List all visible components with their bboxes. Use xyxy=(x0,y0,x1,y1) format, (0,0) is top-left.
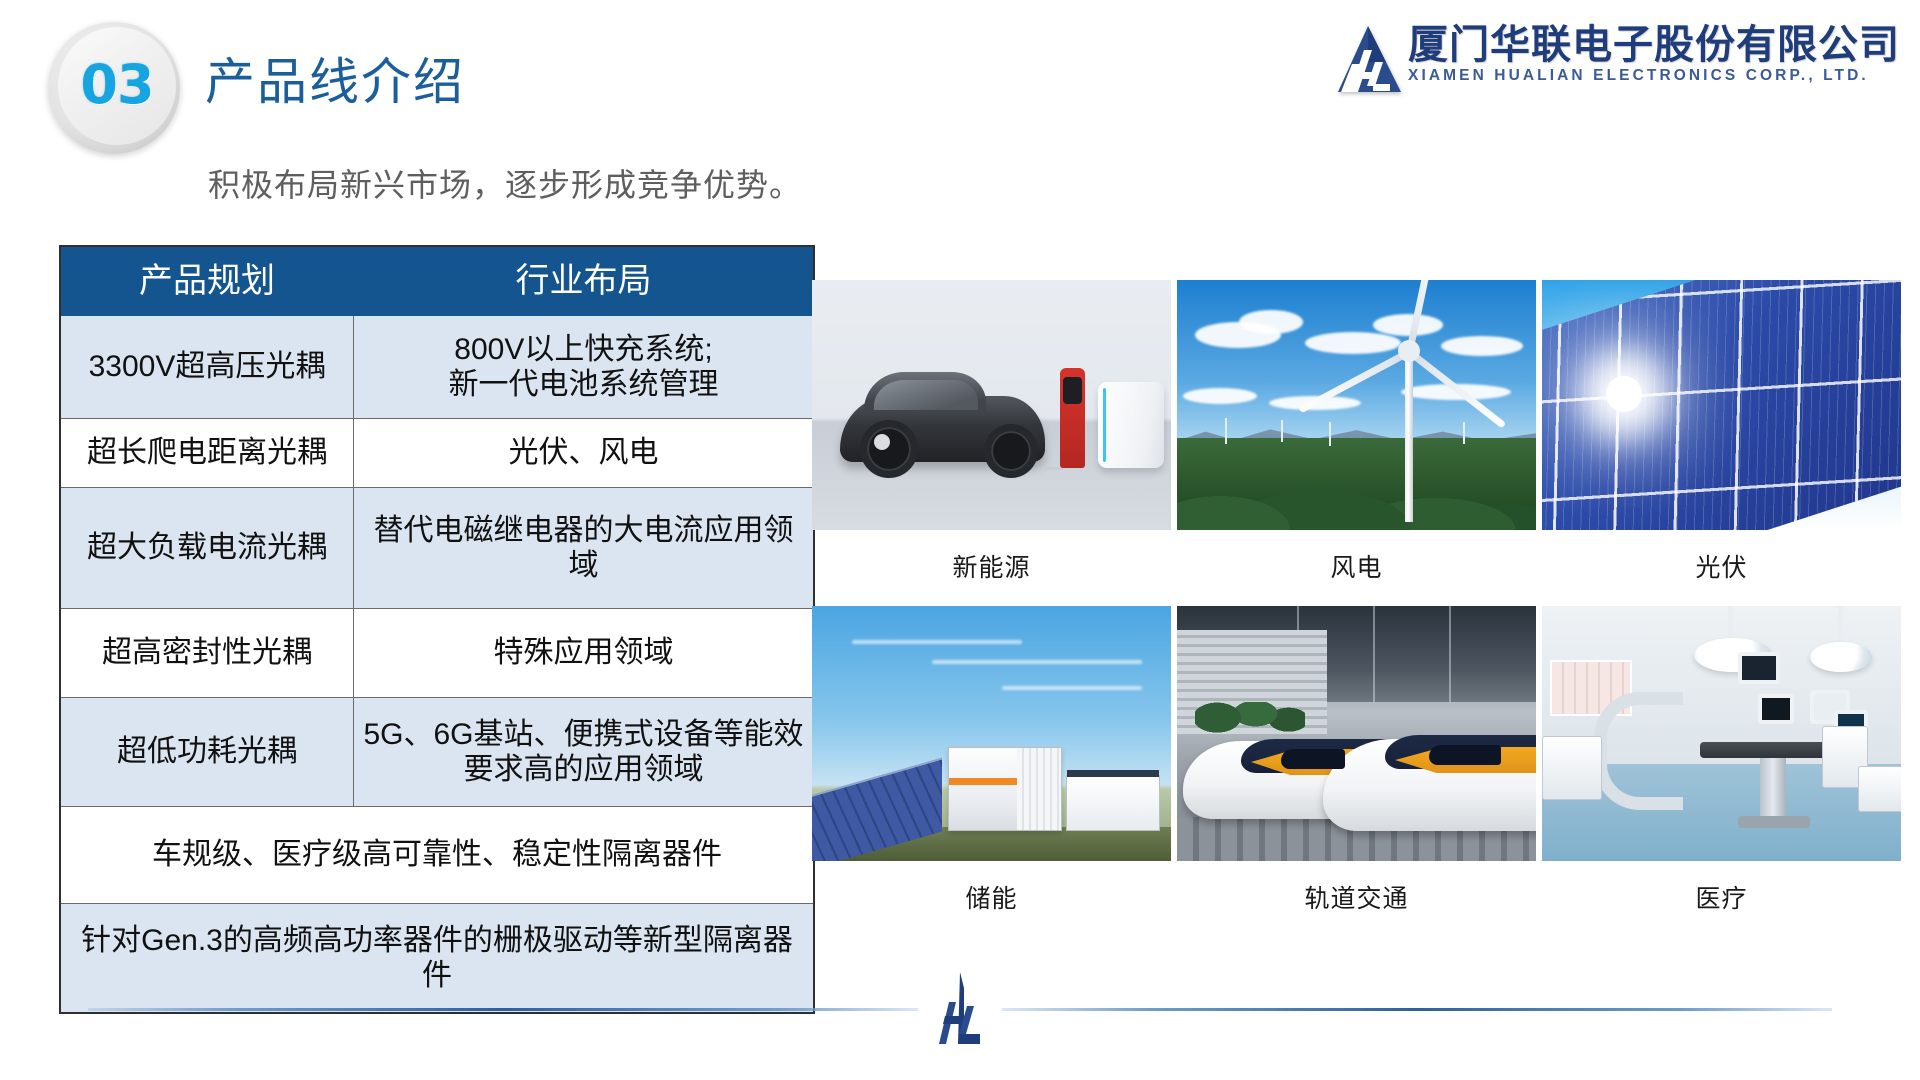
charging-pillar-screen xyxy=(1063,377,1082,404)
ev-car-wheel xyxy=(984,424,1038,478)
vital-monitor xyxy=(1758,694,1794,724)
green-hills xyxy=(1177,438,1536,530)
table-row: 超大负载电流光耦 替代电磁继电器的大电流应用领域 xyxy=(60,488,814,609)
cloud xyxy=(1373,314,1443,336)
application-photo-grid: 新能源 xyxy=(812,280,1902,915)
cell-product-plan: 超长爬电距离光耦 xyxy=(60,419,354,488)
section-number-badge: 03 xyxy=(48,18,188,158)
table-head: 产品规划 行业布局 xyxy=(60,246,814,316)
medical-cart xyxy=(1858,766,1901,812)
footer-hualian-icon xyxy=(933,972,987,1051)
cell-industry-layout: 5G、6G基站、便携式设备等能效要求高的应用领域 xyxy=(354,698,815,807)
photo-cell-medical: 医疗 xyxy=(1542,606,1901,915)
page-title: 产品线介绍 xyxy=(205,42,465,114)
surgical-lamp xyxy=(1810,642,1872,672)
ev-car-wheel xyxy=(860,420,918,478)
distant-turbine xyxy=(1281,420,1283,442)
c-arm-xray-machine xyxy=(1594,692,1683,810)
operating-table-column xyxy=(1760,758,1786,820)
cloud xyxy=(1305,332,1401,354)
roof-beam xyxy=(1449,606,1451,702)
train-window xyxy=(1429,745,1501,765)
high-speed-train-photo xyxy=(1177,606,1536,861)
cirrus-cloud xyxy=(1002,686,1142,690)
footer-divider-right xyxy=(1002,1008,1832,1011)
lamp-arm xyxy=(1838,606,1843,646)
photo-cell-energy-storage: 储能 xyxy=(812,606,1171,915)
cell-industry-layout: 特殊应用领域 xyxy=(354,609,815,698)
photo-cell-rail-transit: 轨道交通 xyxy=(1177,606,1536,915)
turbine-hub xyxy=(1398,340,1420,362)
hualian-triangle-icon xyxy=(1328,24,1402,101)
photo-caption: 光伏 xyxy=(1542,548,1901,584)
photo-caption: 轨道交通 xyxy=(1177,879,1536,915)
photo-caption: 储能 xyxy=(812,879,1171,915)
photo-cell-photovoltaic: 光伏 xyxy=(1542,280,1901,584)
photo-cell-new-energy: 新能源 xyxy=(812,280,1171,584)
cell-product-plan: 超低功耗光耦 xyxy=(60,698,354,807)
cloud xyxy=(1183,388,1257,404)
footer-divider-left xyxy=(88,1008,918,1011)
cell-product-plan: 3300V超高压光耦 xyxy=(60,316,354,419)
cell-product-plan: 超高密封性光耦 xyxy=(60,609,354,698)
logo-company-name-cn: 厦门华联电子股份有限公司 xyxy=(1408,24,1900,66)
vital-monitor xyxy=(1738,652,1780,684)
solar-panel-array xyxy=(1542,280,1901,530)
roof-beam xyxy=(1373,606,1375,702)
logo-company-name-en: XIAMEN HUALIAN ELECTRONICS CORP., LTD. xyxy=(1408,67,1900,85)
photo-grid-row-1: 新能源 xyxy=(812,280,1902,584)
ev-charging-photo xyxy=(812,280,1171,530)
wind-turbine-photo xyxy=(1177,280,1536,530)
cloud xyxy=(1441,336,1523,356)
cell-industry-layout: 光伏、风电 xyxy=(354,419,815,488)
photo-grid-row-2: 储能 轨道交通 xyxy=(812,606,1902,915)
table-row: 超长爬电距离光耦 光伏、风电 xyxy=(60,419,814,488)
slide-footer xyxy=(0,972,1920,1046)
company-logo: 厦门华联电子股份有限公司 XIAMEN HUALIAN ELECTRONICS … xyxy=(1328,24,1900,104)
operating-table-base xyxy=(1738,816,1810,828)
table-row: 3300V超高压光耦 800V以上快充系统; 新一代电池系统管理 xyxy=(60,316,814,419)
distant-turbine xyxy=(1329,422,1331,446)
cell-industry-layout: 替代电磁继电器的大电流应用领域 xyxy=(354,488,815,609)
page-subtitle: 积极布局新兴市场，逐步形成竞争优势。 xyxy=(208,160,802,206)
table-header-row: 产品规划 行业布局 xyxy=(60,246,814,316)
cloud xyxy=(1239,310,1303,334)
badge-number-label: 03 xyxy=(80,58,153,112)
cell-industry-layout: 800V以上快充系统; 新一代电池系统管理 xyxy=(354,316,815,419)
energy-storage-photo xyxy=(812,606,1171,861)
product-plan-table: 产品规划 行业布局 3300V超高压光耦 800V以上快充系统; 新一代电池系统… xyxy=(59,245,815,1014)
operating-room-photo xyxy=(1542,606,1901,861)
battery-container xyxy=(948,747,1062,831)
table-row-merged: 车规级、医疗级高可靠性、稳定性隔离器件 xyxy=(60,807,814,904)
distant-turbine xyxy=(1225,418,1227,444)
train-window xyxy=(1281,749,1345,769)
badge-circle: 03 xyxy=(58,27,176,145)
table-row: 超低功耗光耦 5G、6G基站、便携式设备等能效要求高的应用领域 xyxy=(60,698,814,807)
table-row: 超高密封性光耦 特殊应用领域 xyxy=(60,609,814,698)
column-header-product-plan: 产品规划 xyxy=(60,246,354,316)
slide-header: 03 产品线介绍 积极布局新兴市场，逐步形成竞争优势。 厦门华联电子股份有限公司… xyxy=(0,0,1920,150)
cell-product-plan: 超大负载电流光耦 xyxy=(60,488,354,609)
transformer-cabinet xyxy=(1066,775,1160,831)
table-body: 3300V超高压光耦 800V以上快充系统; 新一代电池系统管理 超长爬电距离光… xyxy=(60,316,814,1014)
photo-caption: 风电 xyxy=(1177,548,1536,584)
solar-panel-photo xyxy=(1542,280,1901,530)
column-header-industry-layout: 行业布局 xyxy=(354,246,815,316)
distant-turbine xyxy=(1463,422,1465,444)
cirrus-cloud xyxy=(852,640,1022,644)
photo-cell-wind-power: 风电 xyxy=(1177,280,1536,584)
sun-flare xyxy=(1606,376,1642,412)
charging-cabinet xyxy=(1098,382,1164,468)
cell-merged-note: 车规级、医疗级高可靠性、稳定性隔离器件 xyxy=(60,807,814,904)
ev-car-window xyxy=(874,380,978,410)
logo-text: 厦门华联电子股份有限公司 XIAMEN HUALIAN ELECTRONICS … xyxy=(1408,24,1900,85)
lamp-arm xyxy=(1728,606,1733,642)
cirrus-cloud xyxy=(932,660,1142,664)
turbine-tower xyxy=(1405,350,1413,522)
photo-caption: 医疗 xyxy=(1542,879,1901,915)
medical-cart xyxy=(1542,736,1602,800)
photo-caption: 新能源 xyxy=(812,548,1171,584)
